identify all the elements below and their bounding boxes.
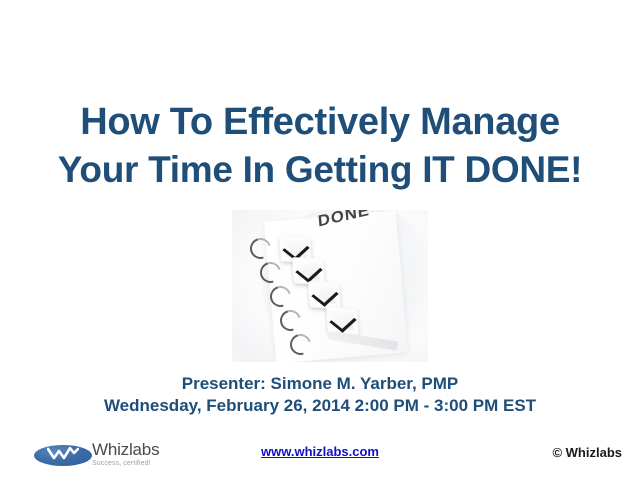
presenter-details: Presenter: Simone M. Yarber, PMP Wednesd… <box>0 373 640 417</box>
title-line-1: How To Effectively Manage <box>0 98 640 146</box>
copyright-text: © Whizlabs <box>552 445 622 460</box>
website-link[interactable]: www.whizlabs.com <box>0 444 640 459</box>
page-title: How To Effectively Manage Your Time In G… <box>0 98 640 194</box>
checkmark-icon <box>311 283 338 306</box>
hero-image-scene: DONE <box>232 210 428 362</box>
hero-image: DONE <box>232 210 428 362</box>
title-line-2: Your Time In Getting IT DONE! <box>0 146 640 194</box>
presenter-name: Presenter: Simone M. Yarber, PMP <box>0 373 640 395</box>
checkmark-icon <box>329 309 356 332</box>
checkmark-icon <box>295 259 322 282</box>
footer: Whizlabs Success, certified! www.whizlab… <box>0 436 640 480</box>
presentation-slide: How To Effectively Manage Your Time In G… <box>0 0 640 480</box>
presenter-datetime: Wednesday, February 26, 2014 2:00 PM - 3… <box>0 395 640 417</box>
checkbox-checked <box>308 281 341 309</box>
logo-tagline: Success, certified! <box>92 459 184 468</box>
